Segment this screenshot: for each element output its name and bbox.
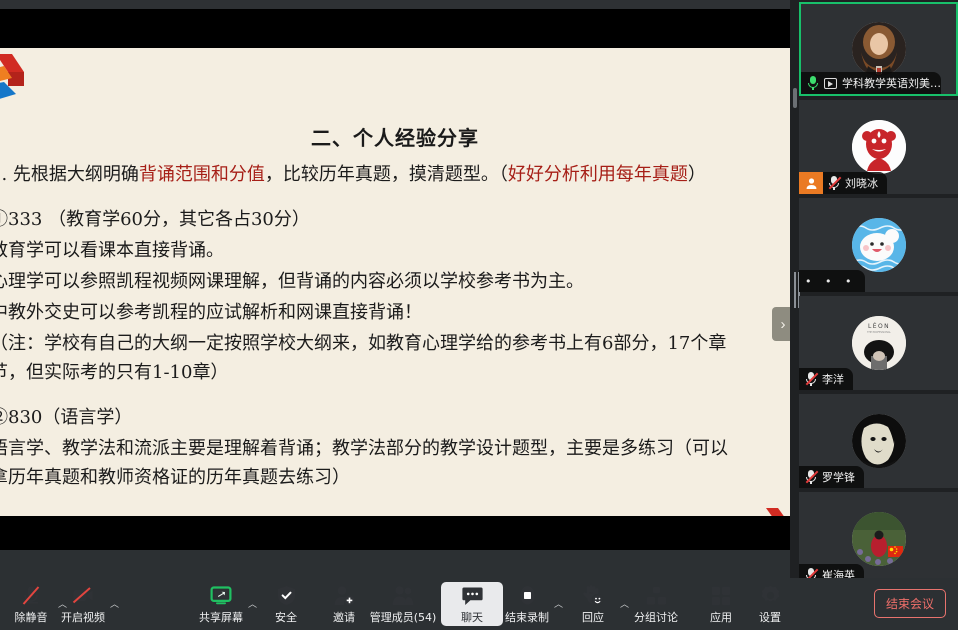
participant-name: 学科教学英语刘美… — [842, 75, 941, 91]
toolbar-button-label: 安全 — [275, 609, 297, 625]
participant-name-bar: • • • — [799, 270, 865, 292]
slide-title: 二、个人经验分享 — [0, 122, 790, 151]
slide-paragraph: ②830（语言学） — [0, 403, 742, 432]
participant-tile[interactable]: 刘晓冰 — [799, 100, 958, 194]
zoom-meeting-window: 二、个人经验分享 1. 先根据大纲明确背诵范围和分值，比较历年真题，摸清题型。（… — [0, 0, 958, 630]
toolbar-button-label: 共享屏幕 — [199, 609, 243, 625]
mic-muted-icon — [21, 585, 41, 606]
window-top-bar — [0, 0, 790, 9]
toolbar-button-label: 分组讨论 — [634, 609, 678, 625]
body-text: ） — [688, 164, 706, 185]
emphasis-text: 好好分析利用每年真题 — [508, 164, 688, 185]
paragraph-spacer — [0, 389, 742, 403]
microphone-muted-icon — [805, 372, 817, 386]
participant-name-bar: 学科教学英语刘美… — [801, 72, 941, 94]
wps-logo-top-left — [0, 52, 28, 98]
toolbar-button-start_video[interactable]: 开启视频 — [52, 582, 114, 626]
toolbar-button-participants[interactable]: 管理成员(54) — [372, 582, 434, 626]
svg-text:THE PROFESSIONAL: THE PROFESSIONAL — [867, 331, 891, 334]
participant-name-bar: 李洋 — [799, 368, 853, 390]
video-off-icon — [72, 585, 94, 606]
toolbar-button-label: 聊天 — [461, 609, 483, 625]
slide-paragraph: （注：学校有自己的大纲一定按照学校大纲来，如教育心理学给的参考书上有6部分，17… — [0, 329, 742, 387]
microphone-muted-icon — [805, 470, 817, 484]
body-text: 中教外交史可以参考凯程的应试解析和网课直接背诵！ — [0, 302, 422, 323]
participant-name: 罗学锋 — [822, 469, 855, 485]
toolbar-button-invite[interactable]: 邀请 — [313, 582, 375, 626]
body-text: 1. 先根据大纲明确 — [0, 164, 139, 185]
meeting-toolbar: 除静音︿开启视频︿共享屏幕︿安全邀请管理成员(54)聊天结束录制︿回应︿分组讨论… — [0, 578, 958, 630]
participants-icon — [392, 585, 414, 606]
participant-tile[interactable]: 崔海英 — [799, 492, 958, 578]
participant-tile[interactable]: • • • — [799, 198, 958, 292]
avatar — [852, 120, 906, 174]
svg-text:LÉON: LÉON — [868, 322, 890, 330]
presentation-slide[interactable]: 二、个人经验分享 1. 先根据大纲明确背诵范围和分值，比较历年真题，摸清题型。（… — [0, 48, 790, 516]
raise-hand-icon — [582, 585, 604, 606]
participant-name: 崔海英 — [822, 567, 855, 578]
toolbar-button-label: 回应 — [582, 609, 604, 625]
toolbar-button-security[interactable]: 安全 — [255, 582, 317, 626]
avatar — [852, 414, 906, 468]
toolbar-caret-start_video[interactable]: ︿ — [110, 600, 119, 609]
participant-name: 刘晓冰 — [845, 175, 878, 191]
next-slide-button[interactable]: › — [772, 307, 790, 341]
share-screen-icon — [210, 585, 232, 606]
participant-tile[interactable]: LÉONTHE PROFESSIONAL李洋 — [799, 296, 958, 390]
chat-bubble-icon — [462, 585, 483, 606]
participant-name-bar: 崔海英 — [799, 564, 864, 578]
participant-name: • • • — [805, 275, 856, 288]
gear-icon — [760, 585, 781, 606]
toolbar-button-share[interactable]: 共享屏幕 — [190, 582, 252, 626]
microphone-muted-icon — [828, 176, 840, 190]
toolbar-button-reactions[interactable]: 回应 — [562, 582, 624, 626]
avatar — [852, 22, 906, 76]
participant-tile[interactable]: 学科教学英语刘美… — [799, 2, 958, 96]
breakout-rooms-icon — [646, 585, 667, 606]
rail-scrollbar[interactable] — [793, 88, 797, 108]
body-text: ②830（语言学） — [0, 407, 132, 428]
toolbar-button-label: 结束录制 — [505, 609, 549, 625]
shared-screen-stage[interactable]: 二、个人经验分享 1. 先根据大纲明确背诵范围和分值，比较历年真题，摸清题型。（… — [0, 9, 790, 550]
microphone-on-icon — [807, 76, 819, 90]
slide-paragraph: ①333 （教育学60分，其它各占30分） — [0, 205, 742, 234]
invite-user-icon — [334, 585, 355, 606]
toolbar-button-label: 管理成员(54) — [370, 609, 437, 625]
microphone-muted-icon — [805, 568, 817, 578]
screen-share-icon — [824, 78, 837, 89]
participant-name-bar: 刘晓冰 — [799, 172, 887, 194]
end-meeting-button[interactable]: 结束会议 — [874, 589, 946, 618]
wps-logo-bottom-right — [744, 506, 790, 516]
toolbar-button-chat[interactable]: 聊天 — [441, 582, 503, 626]
body-text: 教育学可以看课本直接背诵。 — [0, 240, 224, 261]
slide-paragraph: 中教外交史可以参考凯程的应试解析和网课直接背诵！ — [0, 298, 742, 327]
paragraph-spacer — [0, 191, 742, 205]
participant-tile[interactable]: 罗学锋 — [799, 394, 958, 488]
toolbar-button-label: 应用 — [710, 609, 732, 625]
stop-record-icon — [518, 585, 537, 606]
shield-icon — [277, 585, 296, 606]
slide-paragraph: 心理学可以参照凯程视频网课理解，但背诵的内容必须以学校参考书为主。 — [0, 267, 742, 296]
host-badge-icon — [799, 172, 823, 194]
participant-name-bar: 罗学锋 — [799, 466, 864, 488]
toolbar-button-settings[interactable]: 设置 — [739, 582, 801, 626]
toolbar-button-record[interactable]: 结束录制 — [496, 582, 558, 626]
toolbar-button-label: 开启视频 — [61, 609, 105, 625]
body-text: 心理学可以参照凯程视频网课理解，但背诵的内容必须以学校参考书为主。 — [0, 271, 584, 292]
body-text: 语言学、教学法和流派主要是理解着背诵；教学法部分的教学设计题型，主要是多练习（可… — [0, 438, 728, 488]
slide-paragraph: 语言学、教学法和流派主要是理解着背诵；教学法部分的教学设计题型，主要是多练习（可… — [0, 434, 742, 492]
avatar: LÉONTHE PROFESSIONAL — [852, 316, 906, 370]
participant-name: 李洋 — [822, 371, 844, 387]
toolbar-button-breakout[interactable]: 分组讨论 — [625, 582, 687, 626]
slide-paragraph: 教育学可以看课本直接背诵。 — [0, 236, 742, 265]
emphasis-text: 背诵范围和分值 — [139, 164, 265, 185]
participant-thumbnail-rail[interactable]: 学科教学英语刘美…刘晓冰• • •LÉONTHE PROFESSIONAL李洋罗… — [790, 0, 958, 578]
body-text: ①333 （教育学60分，其它各占30分） — [0, 209, 310, 230]
apps-grid-icon — [711, 585, 731, 606]
toolbar-button-label: 设置 — [759, 609, 781, 625]
avatar — [852, 512, 906, 566]
body-text: ，比较历年真题，摸清题型。（ — [265, 164, 508, 185]
slide-body-text: 1. 先根据大纲明确背诵范围和分值，比较历年真题，摸清题型。（好好分析利用每年真… — [0, 160, 742, 494]
toolbar-button-label: 邀请 — [333, 609, 355, 625]
toolbar-button-label: 除静音 — [15, 609, 48, 625]
slide-paragraph: 1. 先根据大纲明确背诵范围和分值，比较历年真题，摸清题型。（好好分析利用每年真… — [0, 160, 742, 189]
body-text: （注：学校有自己的大纲一定按照学校大纲来，如教育心理学给的参考书上有6部分，17… — [0, 333, 726, 383]
avatar — [852, 218, 906, 272]
